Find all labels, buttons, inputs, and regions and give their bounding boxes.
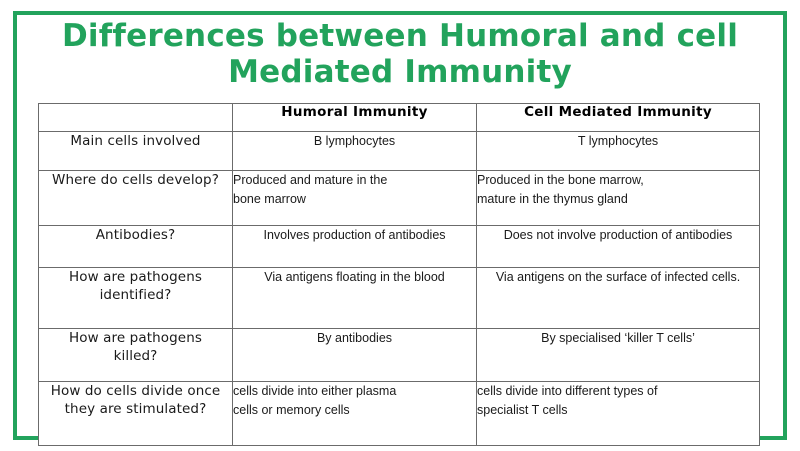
row-cell-mediated-antibodies: Does not involve production of antibodie…	[477, 226, 760, 268]
row-cell-mediated-pathogens-killed: By specialised ‘killer T cells’	[477, 329, 760, 382]
row-question-where-develop: Where do cells develop?	[39, 171, 233, 226]
table-row: Antibodies? Involves production of antib…	[39, 226, 760, 268]
row-question-pathogens-identified: How are pathogens identified?	[39, 268, 233, 329]
cell-text-line: bone marrow	[233, 190, 476, 209]
cell-text-line: Via antigens on the surface of infected …	[477, 268, 759, 287]
page-title-line-1: Differences between Humoral and cell	[40, 18, 760, 54]
table-header-blank	[39, 104, 233, 132]
page-title: Differences between Humoral and cell Med…	[40, 18, 760, 90]
slide-canvas: Differences between Humoral and cell Med…	[0, 0, 800, 451]
cell-text-line: Produced and mature in the	[233, 171, 476, 190]
cell-text-line: cells divide into different types of	[477, 382, 759, 401]
cell-text-line: B lymphocytes	[233, 132, 476, 151]
row-humoral-where-develop: Produced and mature in the bone marrow	[233, 171, 477, 226]
row-question-cells-divide: How do cells divide once they are stimul…	[39, 382, 233, 446]
row-humoral-pathogens-identified: Via antigens floating in the blood	[233, 268, 477, 329]
cell-text-line: Involves production of antibodies	[233, 226, 476, 245]
table-row: Main cells involved B lymphocytes T lymp…	[39, 132, 760, 171]
cell-text-line: cells divide into either plasma	[233, 382, 476, 401]
cell-text-line: By antibodies	[233, 329, 476, 348]
cell-text-line: How do cells divide once	[39, 382, 232, 400]
row-question-antibodies: Antibodies?	[39, 226, 233, 268]
cell-text-line: Does not involve production of antibodie…	[477, 226, 759, 245]
table-header-row: Humoral Immunity Cell Mediated Immunity	[39, 104, 760, 132]
cell-text-line: Produced in the bone marrow,	[477, 171, 759, 190]
cell-text-line: they are stimulated?	[39, 400, 232, 418]
cell-text-line: identified?	[39, 286, 232, 304]
row-humoral-main-cells: B lymphocytes	[233, 132, 477, 171]
cell-text-line: T lymphocytes	[477, 132, 759, 151]
cell-text-line: killed?	[39, 347, 232, 365]
cell-text-line: How are pathogens	[39, 268, 232, 286]
row-humoral-cells-divide: cells divide into either plasma cells or…	[233, 382, 477, 446]
table-row: How are pathogens killed? By antibodies …	[39, 329, 760, 382]
row-cell-mediated-pathogens-identified: Via antigens on the surface of infected …	[477, 268, 760, 329]
cell-text-line: How are pathogens	[39, 329, 232, 347]
row-humoral-pathogens-killed: By antibodies	[233, 329, 477, 382]
table-row: How are pathogens identified? Via antige…	[39, 268, 760, 329]
table-header-cell-mediated: Cell Mediated Immunity	[477, 104, 760, 132]
cell-text-line: Via antigens floating in the blood	[233, 268, 476, 287]
table-row: How do cells divide once they are stimul…	[39, 382, 760, 446]
row-cell-mediated-where-develop: Produced in the bone marrow, mature in t…	[477, 171, 760, 226]
row-humoral-antibodies: Involves production of antibodies	[233, 226, 477, 268]
cell-text-line: mature in the thymus gland	[477, 190, 759, 209]
cell-text-line: By specialised ‘killer T cells’	[477, 329, 759, 348]
table-row: Where do cells develop? Produced and mat…	[39, 171, 760, 226]
row-cell-mediated-cells-divide: cells divide into different types of spe…	[477, 382, 760, 446]
row-question-pathogens-killed: How are pathogens killed?	[39, 329, 233, 382]
cell-text-line: cells or memory cells	[233, 401, 476, 420]
page-title-line-2: Mediated Immunity	[40, 54, 760, 90]
row-cell-mediated-main-cells: T lymphocytes	[477, 132, 760, 171]
comparison-table: Humoral Immunity Cell Mediated Immunity …	[38, 103, 760, 446]
table-header-humoral: Humoral Immunity	[233, 104, 477, 132]
row-question-main-cells: Main cells involved	[39, 132, 233, 171]
cell-text-line: specialist T cells	[477, 401, 759, 420]
